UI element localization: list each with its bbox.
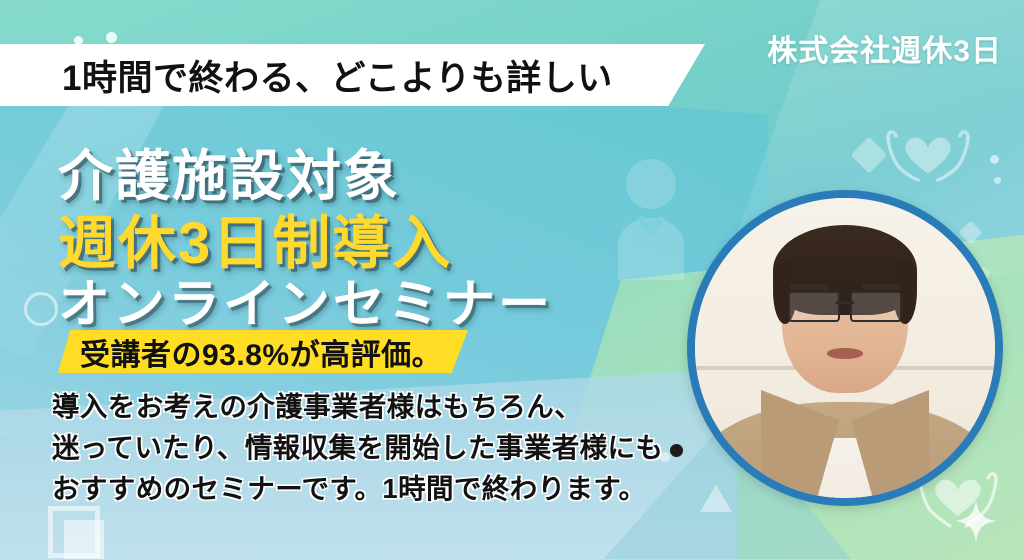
description-block: 導入をお考えの介護事業者様はもちろん、 迷っていたり、情報収集を開始した事業者様… (52, 386, 663, 509)
dot-icon (670, 444, 683, 457)
portrait-mouth (827, 348, 863, 359)
portrait-glasses (788, 291, 902, 318)
rating-badge: 受講者の93.8%が高評価。 (58, 330, 468, 373)
description-line-1: 導入をお考えの介護事業者様はもちろん、 (52, 386, 663, 427)
company-name: 株式会社週休3日 (767, 26, 1002, 70)
description-line-3: おすすめのセミナーです。1時間で終わります。 (52, 468, 663, 509)
description-line-2: 迷っていたり、情報収集を開始した事業者様にも (52, 427, 663, 468)
portrait-lens-right (850, 291, 902, 322)
portrait-image (695, 198, 995, 498)
seminar-banner: 株式会社週休3日 1時間で終わる、どこよりも詳しい 介護施設対象 週休3日制導入… (0, 0, 1024, 559)
eyebrow-text: 1時間で終わる、どこよりも詳しい (62, 50, 613, 101)
presenter-portrait (687, 190, 1003, 506)
portrait-glasses-bridge (836, 301, 854, 304)
rating-badge-text: 受講者の93.8%が高評価。 (80, 330, 442, 374)
portrait-eyebrow-left (790, 284, 829, 291)
portrait-lens-left (788, 291, 840, 322)
portrait-eyebrow-right (862, 284, 901, 291)
title-line-3: オンラインセミナー (58, 262, 553, 337)
eyebrow-band: 1時間で終わる、どこよりも詳しい (0, 44, 705, 106)
